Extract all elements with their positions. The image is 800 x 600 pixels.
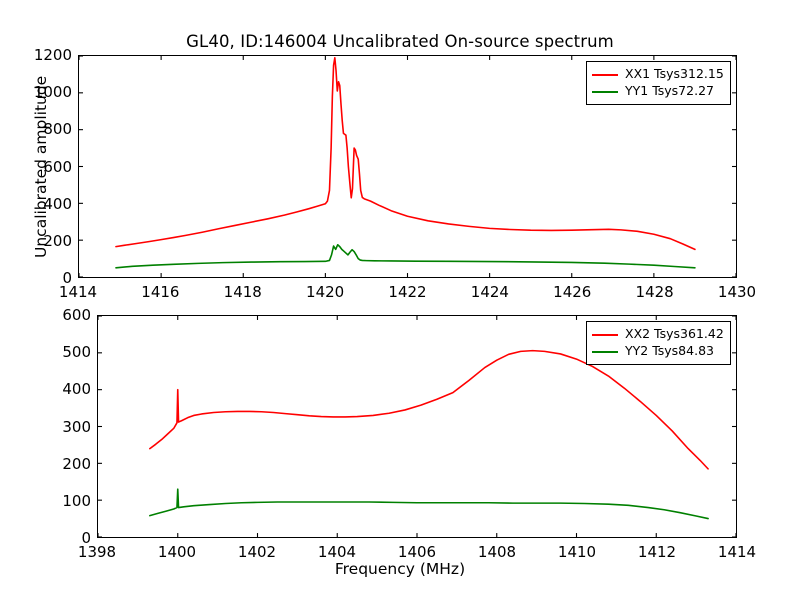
y-tick-label: 400 [35,380,91,398]
y-tick-label: 0 [16,269,72,287]
y-tick-label: 500 [35,343,91,361]
y-tick-label: 600 [35,306,91,324]
x-tick-label: 1420 [306,283,344,301]
x-tick-label: 1408 [478,543,516,561]
matplotlib-figure: GL40, ID:146004 Uncalibrated On-source s… [0,0,800,600]
x-tick-label: 1412 [638,543,676,561]
legend-label: YY2 Tsys84.83 [625,345,714,358]
legend-color-swatch [592,351,618,353]
y-tick-label: 800 [16,120,72,138]
y-tick-label: 300 [35,418,91,436]
y-tick-label: 200 [16,232,72,250]
y-tick-label: 0 [35,529,91,547]
x-tick-label: 1400 [158,543,196,561]
x-tick-label: 1424 [471,283,509,301]
legend-color-swatch [592,91,618,93]
x-tick-label: 1402 [238,543,276,561]
x-tick-label: 1426 [553,283,591,301]
legend-item: YY2 Tsys84.83 [592,343,724,360]
x-tick-label: 1414 [718,543,756,561]
legend-color-swatch [592,334,618,336]
x-tick-label: 1406 [398,543,436,561]
legend-color-swatch [592,74,618,76]
legend-top: XX1 Tsys312.15YY1 Tsys72.27 [586,61,731,105]
y-tick-label: 1000 [16,83,72,101]
series-line [116,245,695,268]
page-title: GL40, ID:146004 Uncalibrated On-source s… [0,32,800,51]
series-line [150,489,708,518]
legend-item: XX2 Tsys361.42 [592,326,724,343]
legend-label: XX2 Tsys361.42 [625,328,724,341]
x-tick-label: 1416 [141,283,179,301]
legend-item: YY1 Tsys72.27 [592,83,724,100]
y-tick-label: 1200 [16,46,72,64]
x-axis-label-bottom: Frequency (MHz) [0,560,800,578]
y-tick-label: 100 [35,492,91,510]
x-tick-label: 1430 [718,283,756,301]
x-tick-label: 1410 [558,543,596,561]
legend-label: YY1 Tsys72.27 [625,85,714,98]
y-tick-label: 400 [16,195,72,213]
legend-label: XX1 Tsys312.15 [625,68,724,81]
legend-bottom: XX2 Tsys361.42YY2 Tsys84.83 [586,321,731,365]
x-tick-label: 1422 [388,283,426,301]
legend-item: XX1 Tsys312.15 [592,66,724,83]
series-line [150,351,708,469]
x-tick-label: 1418 [224,283,262,301]
x-tick-label: 1404 [318,543,356,561]
x-tick-label: 1428 [636,283,674,301]
y-tick-label: 200 [35,455,91,473]
y-tick-label: 600 [16,158,72,176]
